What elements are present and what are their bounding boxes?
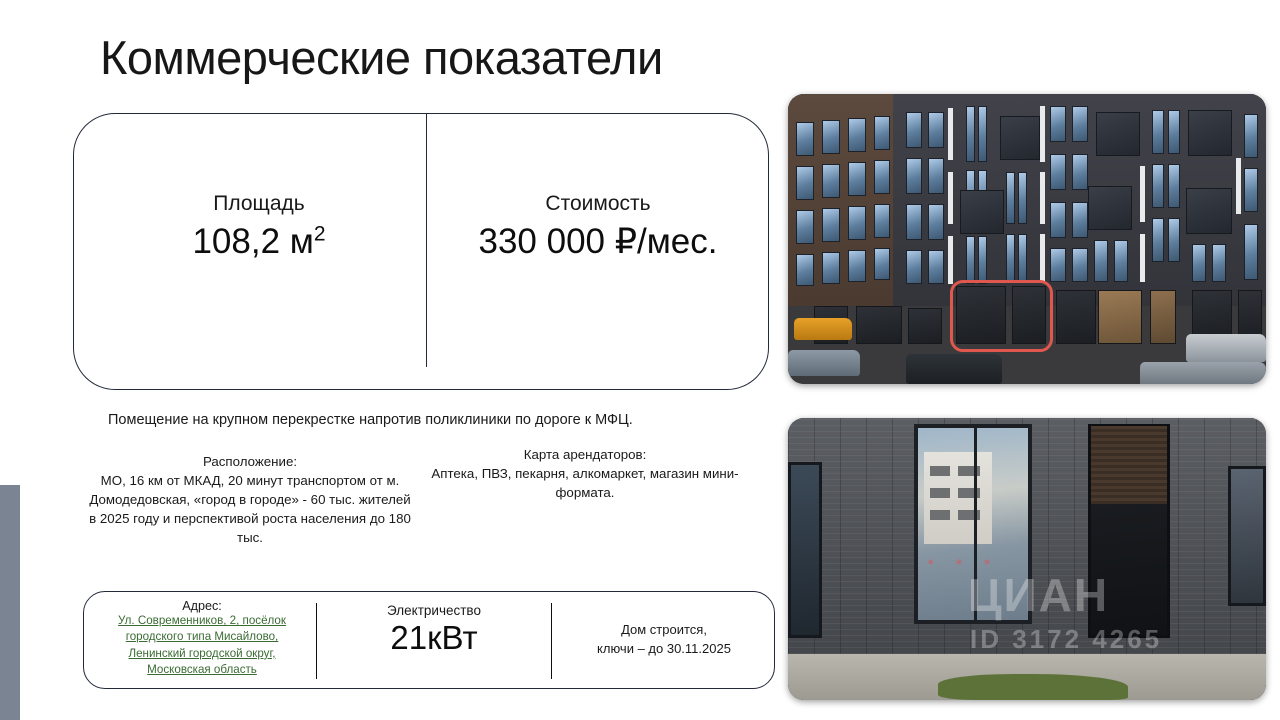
address-link-line-1[interactable]: Ул. Современников, 2, посёлок xyxy=(90,613,314,629)
storefront-window: ✶ ✶ ✶ xyxy=(914,424,1032,624)
fact-address: Адрес: Ул. Современников, 2, посёлок гор… xyxy=(90,599,314,679)
address-link-line-4[interactable]: Московская область xyxy=(90,662,314,678)
building-facade-photo xyxy=(788,94,1266,384)
fact-power-label: Электричество xyxy=(320,603,548,618)
lead-description: Помещение на крупном перекрестке напроти… xyxy=(108,412,728,428)
info-location: Расположение: МО, 16 км от МКАД, 20 мину… xyxy=(85,453,415,547)
left-accent-bar xyxy=(0,485,20,720)
metrics-divider xyxy=(426,114,427,367)
fact-status-line-1: Дом строится, xyxy=(556,621,772,640)
address-link-line-3[interactable]: Ленинский городской округ, xyxy=(90,646,314,662)
fact-status: Дом строится, ключи – до 30.11.2025 xyxy=(556,621,772,659)
facts-panel: Адрес: Ул. Современников, 2, посёлок гор… xyxy=(83,591,775,689)
metric-area-label: Площадь xyxy=(94,192,424,216)
fact-address-label: Адрес: xyxy=(90,599,314,613)
metric-area: Площадь 108,2 м2 xyxy=(94,192,424,262)
info-tenants-heading: Карта арендаторов: xyxy=(425,446,745,465)
metric-area-value: 108,2 м2 xyxy=(94,222,424,262)
info-tenants: Карта арендаторов: Аптека, ПВЗ, пекарня,… xyxy=(425,446,745,503)
metric-area-number: 108,2 м xyxy=(192,222,313,261)
building-facade-canvas xyxy=(788,94,1266,384)
unit-highlight-rectangle xyxy=(950,280,1053,352)
metrics-panel: Площадь 108,2 м2 Стоимость 330 000 ₽/мес… xyxy=(73,113,769,390)
fact-power: Электричество 21кВт xyxy=(320,603,548,657)
storefront-photo: ✶ ✶ ✶ ЦИАН ID 3172 4265 xyxy=(788,418,1266,700)
metric-price-value: 330 000 ₽/мес. xyxy=(430,222,766,262)
page-title: Коммерческие показатели xyxy=(100,30,663,85)
info-tenants-body: Аптека, ПВЗ, пекарня, алкомаркет, магази… xyxy=(431,466,738,500)
storefront-canvas: ✶ ✶ ✶ ЦИАН ID 3172 4265 xyxy=(788,418,1266,700)
facts-divider-2 xyxy=(551,603,552,679)
fact-status-line-2: ключи – до 30.11.2025 xyxy=(556,640,772,659)
info-location-heading: Расположение: xyxy=(85,453,415,472)
facts-divider-1 xyxy=(316,603,317,679)
info-location-body: МО, 16 км от МКАД, 20 минут транспортом … xyxy=(89,473,411,545)
fact-power-value: 21кВт xyxy=(320,619,548,657)
metric-price-label: Стоимость xyxy=(430,192,766,216)
metric-area-superscript: 2 xyxy=(314,222,326,245)
address-link-line-2[interactable]: городского типа Мисайлово, xyxy=(90,629,314,645)
metric-price: Стоимость 330 000 ₽/мес. xyxy=(430,192,766,262)
slide-root: Коммерческие показатели Площадь 108,2 м2… xyxy=(0,0,1280,720)
